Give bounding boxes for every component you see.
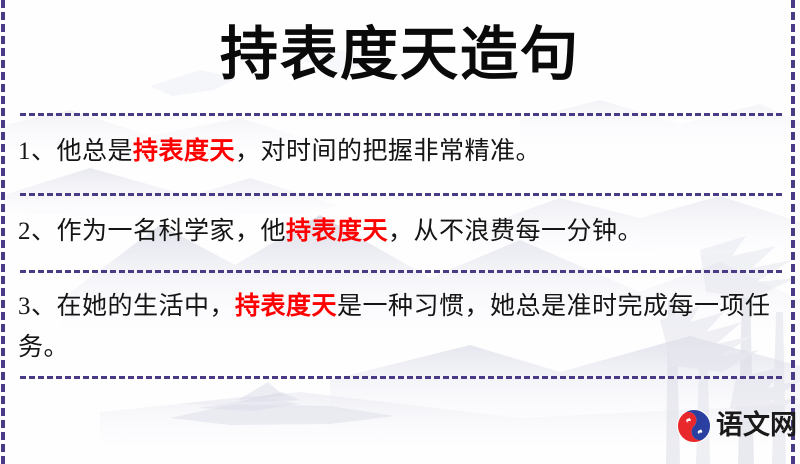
worksheet-page: 持表度天造句 1、他总是持表度天，对时间的把握非常精准。 2、作为一名科学家，他… — [0, 0, 800, 464]
keyword-highlight-1: 持表度天 — [133, 138, 235, 165]
page-title: 持表度天造句 — [0, 18, 800, 90]
sentence-text-after-2: ，从不浪费每一分钟。 — [388, 218, 643, 245]
separator-line-1 — [20, 113, 782, 116]
sentence-text-before-2: 作为一名科学家，他 — [57, 218, 287, 245]
example-sentence-2: 2、作为一名科学家，他持表度天，从不浪费每一分钟。 — [18, 211, 782, 252]
separator-line-4 — [20, 376, 782, 379]
yinyang-logo-icon — [676, 408, 712, 444]
sentence-index-1: 1、 — [18, 138, 57, 165]
keyword-highlight-2: 持表度天 — [286, 218, 388, 245]
sentence-index-2: 2、 — [18, 218, 57, 245]
example-sentence-3: 3、在她的生活中，持表度天是一种习惯，她总是准时完成每一项任务。 — [18, 286, 782, 368]
site-logo-text: 语文网 — [716, 411, 797, 441]
separator-line-3 — [20, 270, 782, 273]
sentence-text-after-1: ，对时间的把握非常精准。 — [235, 138, 541, 165]
sentence-index-3: 3、 — [18, 293, 57, 320]
keyword-highlight-3: 持表度天 — [235, 293, 337, 320]
sentence-text-before-3: 在她的生活中， — [57, 293, 236, 320]
ink-boat-watermark — [170, 382, 395, 425]
sentence-text-before-1: 他总是 — [57, 138, 134, 165]
example-sentence-1: 1、他总是持表度天，对时间的把握非常精准。 — [18, 131, 782, 172]
site-logo[interactable]: 语文网 — [676, 404, 790, 448]
separator-line-2 — [20, 193, 782, 196]
